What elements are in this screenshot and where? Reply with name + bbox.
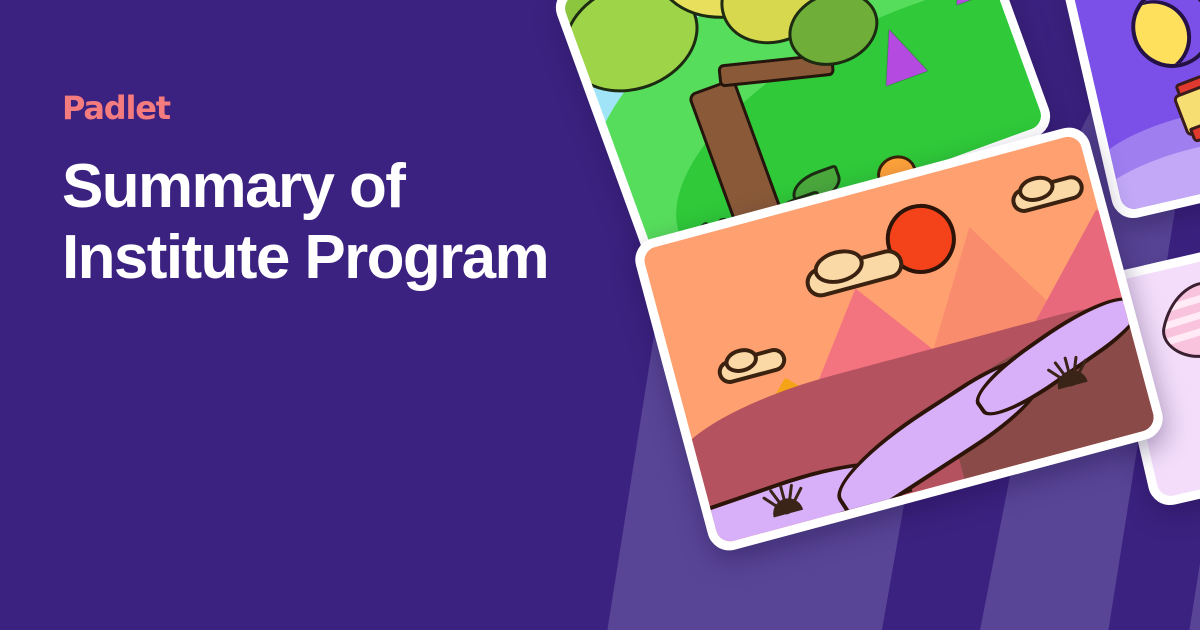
og-image-canvas: Padlet Summary of Institute Program xyxy=(0,0,1200,630)
title-panel: Padlet Summary of Institute Program xyxy=(62,92,602,293)
page-title: Summary of Institute Program xyxy=(62,152,602,293)
padlet-logo[interactable]: Padlet xyxy=(62,92,602,124)
